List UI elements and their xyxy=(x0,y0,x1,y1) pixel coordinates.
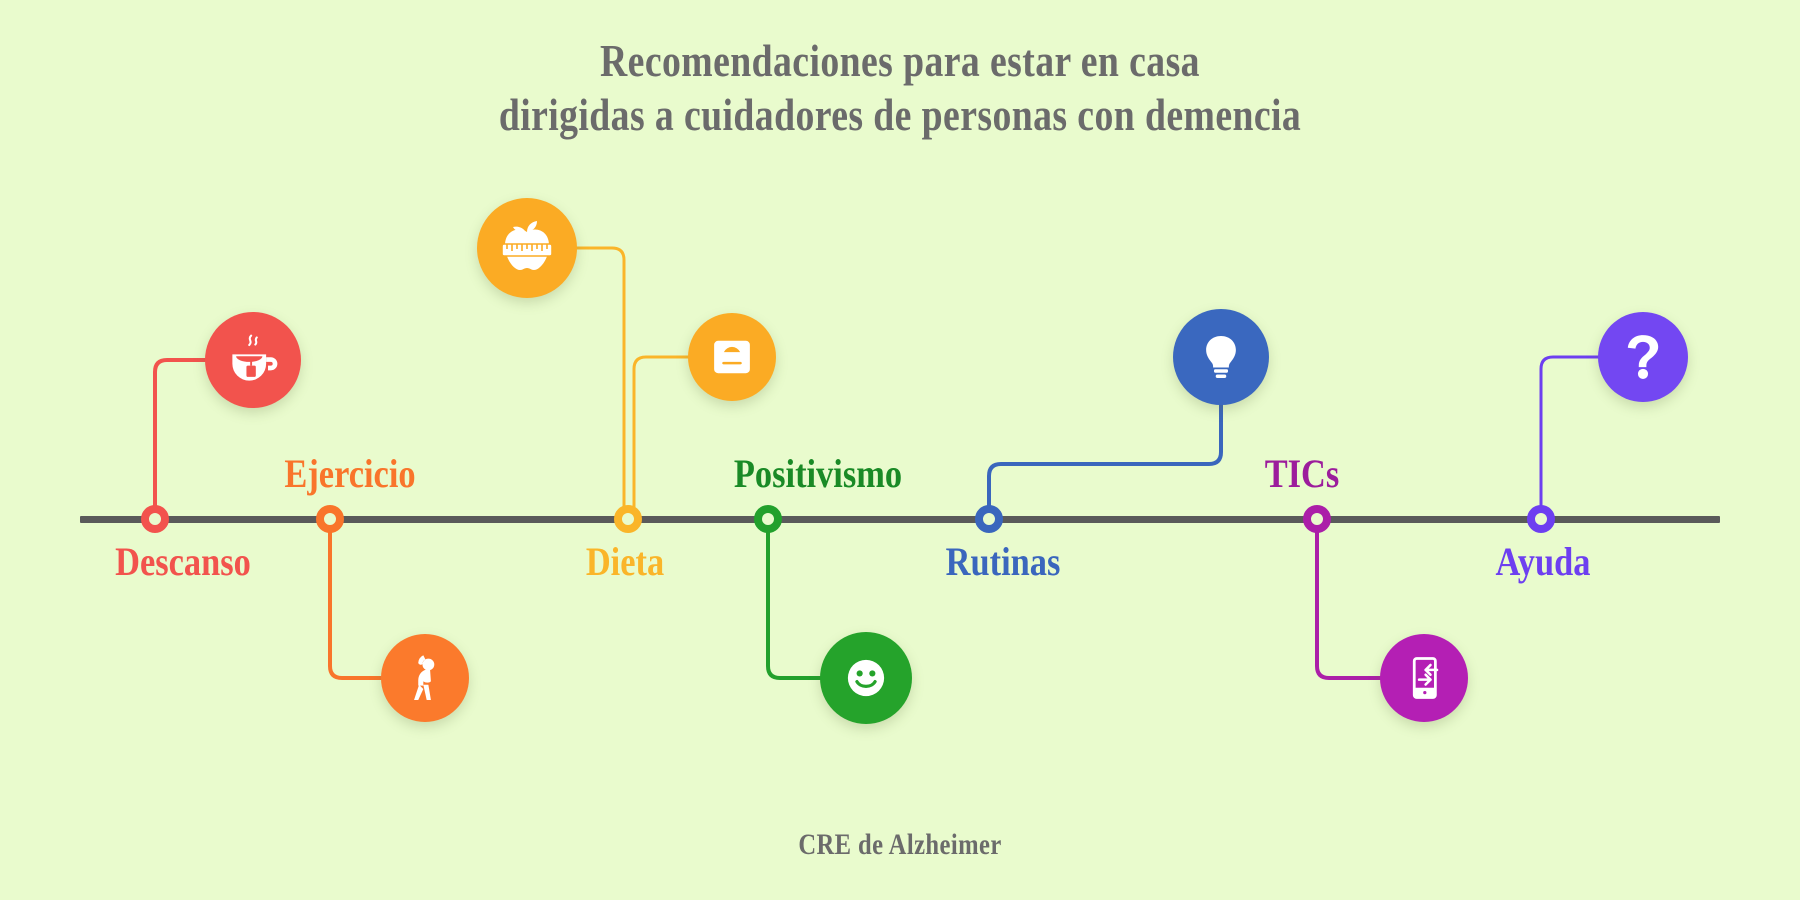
connector-ayuda xyxy=(1541,357,1599,519)
node-label-tics: TICs xyxy=(1265,452,1340,496)
tea-cup-icon[interactable] xyxy=(205,312,301,408)
apple-measuring-tape-icon[interactable] xyxy=(477,198,577,298)
title-line-2: dirigidas a cuidadores de personas con d… xyxy=(162,88,1638,142)
node-label-positivismo: Positivismo xyxy=(734,452,902,496)
node-label-ejercicio: Ejercicio xyxy=(284,452,415,496)
node-label-dieta: Dieta xyxy=(586,540,664,584)
connector-lines xyxy=(0,0,1800,900)
connector-dieta-apple xyxy=(577,248,624,519)
connector-rutinas xyxy=(989,405,1221,519)
timeline-dot-dieta[interactable] xyxy=(614,505,642,533)
page-title: Recomendaciones para estar en casa dirig… xyxy=(0,34,1800,142)
node-label-descanso: Descanso xyxy=(115,540,251,584)
node-label-rutinas: Rutinas xyxy=(946,540,1061,584)
infographic-canvas: Recomendaciones para estar en casa dirig… xyxy=(0,0,1800,900)
connector-tics xyxy=(1317,519,1380,678)
connector-ejercicio xyxy=(330,519,381,678)
connector-dieta-scale xyxy=(634,357,688,519)
connector-descanso xyxy=(155,360,205,519)
connector-positivismo xyxy=(768,519,820,678)
timeline-dot-tics[interactable] xyxy=(1303,505,1331,533)
weight-scale-icon[interactable] xyxy=(688,313,776,401)
question-mark-icon[interactable] xyxy=(1598,312,1688,402)
timeline-dot-ayuda[interactable] xyxy=(1527,505,1555,533)
timeline-dot-ejercicio[interactable] xyxy=(316,505,344,533)
timeline-dot-positivismo[interactable] xyxy=(754,505,782,533)
lightbulb-icon[interactable] xyxy=(1173,309,1269,405)
timeline-dot-rutinas[interactable] xyxy=(975,505,1003,533)
title-line-1: Recomendaciones para estar en casa xyxy=(162,34,1638,88)
stretching-person-icon[interactable] xyxy=(381,634,469,722)
node-label-ayuda: Ayuda xyxy=(1496,540,1591,584)
smiley-face-icon[interactable] xyxy=(820,632,912,724)
smartphone-transfer-icon[interactable] xyxy=(1380,634,1468,722)
timeline-dot-descanso[interactable] xyxy=(141,505,169,533)
footer-credit: CRE de Alzheimer xyxy=(162,828,1638,862)
